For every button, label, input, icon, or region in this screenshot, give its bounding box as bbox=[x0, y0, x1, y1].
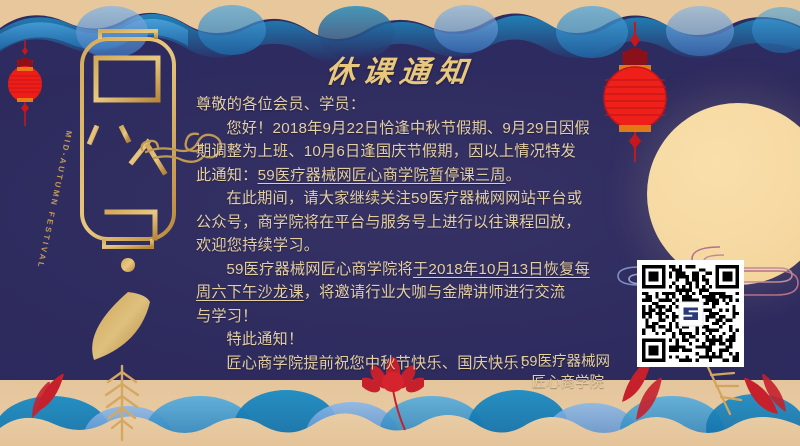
notice-body-line: 您好！2018年9月22日恰逢中秋节假期、9月29日因假 bbox=[196, 117, 616, 141]
notice-text: 公众号，商学院将在平台与服务号上进行以往课程回放， bbox=[196, 214, 581, 231]
notice-text: 与学习！ bbox=[196, 308, 258, 325]
notice-body-line: 特此通知！ bbox=[196, 328, 616, 352]
notice-text: 。 bbox=[506, 167, 521, 184]
notice-body-line: 期调整为上班、10月6日逢国庆节假期，因以上情况特发 bbox=[196, 140, 616, 164]
signature-line-2: 匠心商学院 bbox=[0, 373, 610, 394]
notice-body-line: 尊敬的各位会员、学员： bbox=[196, 93, 616, 117]
notice-body: 尊敬的各位会员、学员：您好！2018年9月22日恰逢中秋节假期、9月29日因假期… bbox=[196, 93, 616, 375]
poster-title-text: 休课通知 bbox=[323, 47, 476, 91]
notice-text: 在此期间，请大家继续关注59医疗器械网网站平台或 bbox=[226, 190, 582, 207]
notice-highlight-text: 于2018年10月13日恢复每 bbox=[413, 261, 590, 278]
notice-body-line: 此通知：59医疗器械网匠心商学院暂停课三周。 bbox=[196, 164, 616, 188]
notice-body-line: 公众号，商学院将在平台与服务号上进行以往课程回放， bbox=[196, 211, 616, 235]
notice-text: 尊敬的各位会员、学员： bbox=[196, 96, 365, 113]
notice-text: 期调整为上班、10月6日逢国庆节假期，因以上情况特发 bbox=[196, 143, 576, 160]
notice-body-line: 欢迎您持续学习。 bbox=[196, 234, 616, 258]
notice-body-line: 在此期间，请大家继续关注59医疗器械网网站平台或 bbox=[196, 187, 616, 211]
notice-text: 欢迎您持续学习。 bbox=[196, 237, 319, 254]
notice-text: 特此通知！ bbox=[226, 331, 303, 348]
wechat-qr-code[interactable] bbox=[637, 260, 744, 367]
notice-body-line: 59医疗器械网匠心商学院将于2018年10月13日恢复每 bbox=[196, 258, 616, 282]
notice-body-line: 与学习！ bbox=[196, 305, 616, 329]
notice-text: 59医疗器械网匠心商学院将 bbox=[226, 261, 413, 278]
notice-text: 此通知： bbox=[196, 167, 258, 184]
notice-highlight-text: 59医疗器械网匠心商学院暂停课三周 bbox=[258, 167, 506, 184]
notice-highlight-text: 周六下午沙龙课 bbox=[196, 284, 304, 301]
notice-text: ，将邀请行业大咖与金牌讲师进行交流 bbox=[304, 284, 566, 301]
mid-autumn-notice-poster: MID-AUTUMN FESTIVAL bbox=[0, 0, 800, 446]
signature-line-1: 59医疗器械网 bbox=[0, 352, 610, 373]
poster-title: 休课通知 bbox=[0, 47, 800, 91]
qr-center-logo-icon bbox=[678, 301, 703, 326]
notice-body-line: 周六下午沙龙课，将邀请行业大咖与金牌讲师进行交流 bbox=[196, 281, 616, 305]
notice-text: 您好！2018年9月22日恰逢中秋节假期、9月29日因假 bbox=[226, 120, 589, 137]
